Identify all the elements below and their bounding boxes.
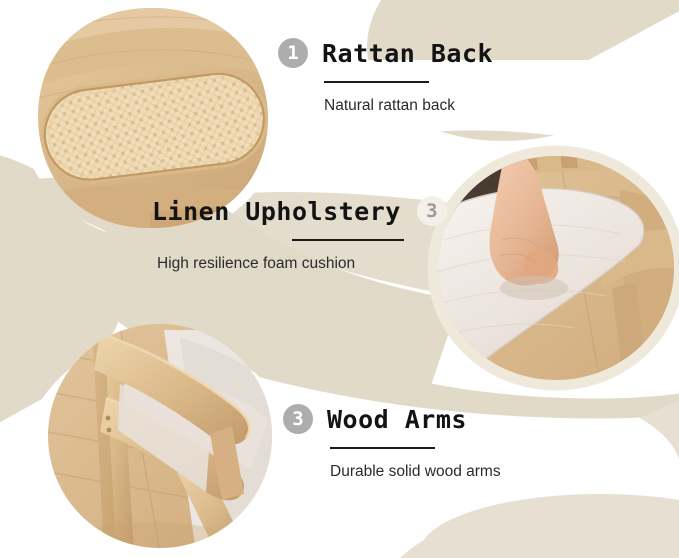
feature-description-rattan: Natural rattan back [324, 97, 493, 114]
product-feature-infographic: 1 Rattan Back Natural rattan back 3 Line… [0, 0, 679, 558]
feature-text-layer: 1 Rattan Back Natural rattan back 3 Line… [0, 0, 679, 558]
feature-heading-linen: 3 Linen Upholstery [152, 196, 447, 226]
feature-title-linen: Linen Upholstery [152, 199, 401, 224]
feature-title-rattan: Rattan Back [322, 41, 493, 66]
feature-block-linen: 3 Linen Upholstery High resilience foam … [152, 196, 447, 272]
feature-description-linen: High resilience foam cushion [157, 255, 447, 272]
feature-title-wood: Wood Arms [327, 407, 467, 432]
step-badge-1: 1 [278, 38, 308, 68]
feature-heading-rattan: 1 Rattan Back [278, 38, 493, 68]
step-badge-3: 3 [283, 404, 313, 434]
title-underline-linen [292, 239, 404, 241]
feature-description-wood: Durable solid wood arms [330, 463, 501, 480]
feature-block-rattan: 1 Rattan Back Natural rattan back [278, 38, 493, 114]
feature-heading-wood: 3 Wood Arms [283, 404, 501, 434]
title-underline-rattan [324, 81, 429, 83]
step-badge-2: 3 [417, 196, 447, 226]
title-underline-wood [330, 447, 435, 449]
feature-block-wood: 3 Wood Arms Durable solid wood arms [283, 404, 501, 480]
